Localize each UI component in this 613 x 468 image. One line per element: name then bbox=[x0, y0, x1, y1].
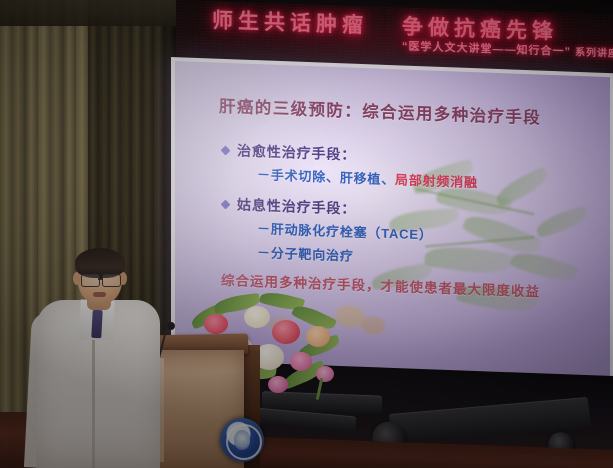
eyeglasses-bridge bbox=[98, 278, 103, 280]
led-banner-line2-tail: 系列讲座第二期 bbox=[575, 47, 613, 61]
podium-emblem-portrait bbox=[234, 430, 250, 450]
speaker-mouth bbox=[93, 292, 106, 297]
eyeglasses-icon-left bbox=[81, 274, 100, 287]
led-banner-line1-part1: 师生共话肿瘤 bbox=[212, 9, 368, 37]
lecture-hall-photo: 师生共话肿瘤争做抗癌先锋 “医学人文大讲堂——知行合一” 系列讲座第二期 bbox=[0, 0, 613, 468]
microphone-icon bbox=[167, 322, 175, 330]
speaker-tie bbox=[91, 310, 102, 338]
stage-curtain-valance bbox=[0, 0, 176, 26]
eyeglasses-icon-right bbox=[102, 274, 121, 287]
